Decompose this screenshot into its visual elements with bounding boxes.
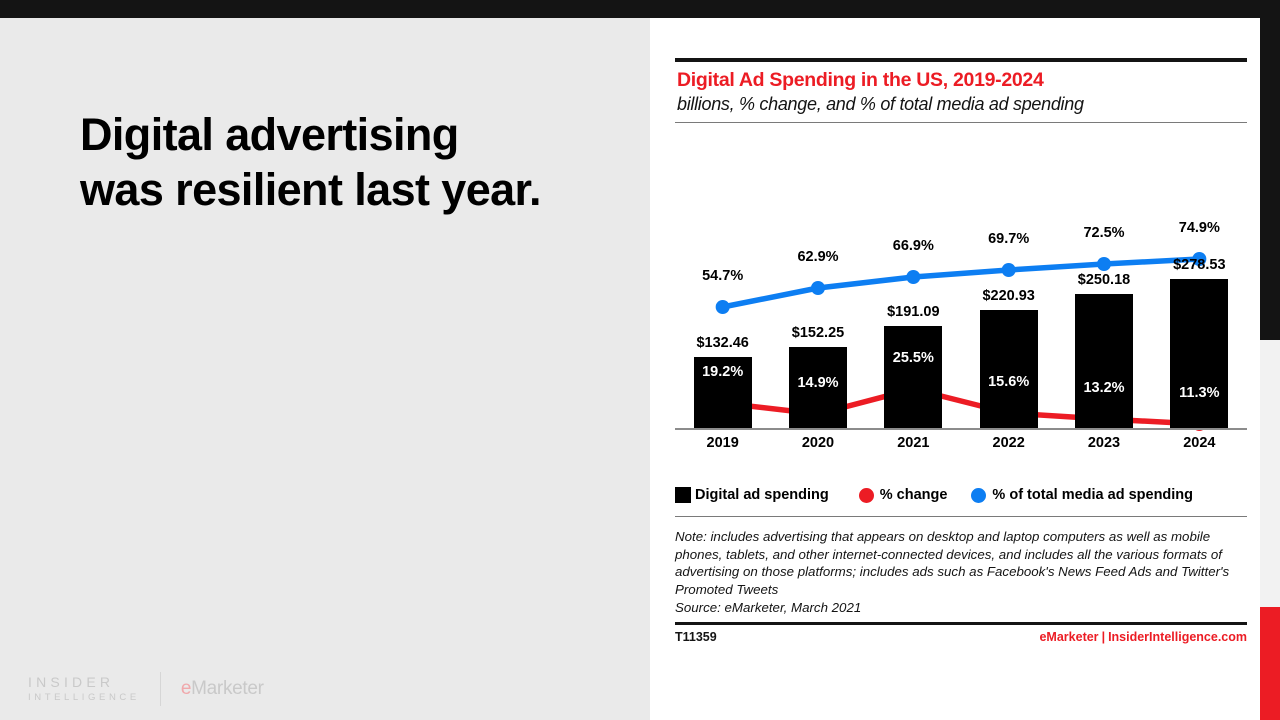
legend-label: % change — [880, 487, 948, 503]
point-label-pct-of-total-2024: 74.9% — [1149, 220, 1249, 236]
chart-notes: Note: includes advertising that appears … — [675, 528, 1247, 616]
bar-value-label-2021: $191.09 — [863, 304, 963, 320]
chart-legend: Digital ad spending% change% of total me… — [675, 487, 1247, 503]
chart-plot-area: $132.46$152.25$191.09$220.93$250.18$278.… — [675, 129, 1247, 459]
bar-value-label-2019: $132.46 — [673, 335, 773, 351]
x-tick-2022: 2022 — [959, 435, 1059, 451]
legend-square-icon — [675, 487, 691, 503]
chart-id: T11359 — [675, 630, 717, 644]
emarketer-logo: eMarketer — [181, 678, 264, 700]
legend-label: Digital ad spending — [695, 487, 829, 503]
insider-intelligence-logo: INSIDER INTELLIGENCE — [28, 673, 140, 705]
chart-subtitle: billions, % change, and % of total media… — [677, 94, 1247, 115]
page-title: Digital advertising was resilient last y… — [80, 108, 640, 218]
footer-website: InsiderIntelligence.com — [1108, 630, 1247, 644]
bar-value-label-2023: $250.18 — [1054, 272, 1154, 288]
point-label-pct-of-total-2022: 69.7% — [959, 231, 1059, 247]
bar-value-label-2024: $278.53 — [1149, 257, 1249, 273]
headline-line-2: was resilient last year. — [80, 163, 640, 218]
x-tick-2020: 2020 — [768, 435, 868, 451]
right-edge-red-strip — [1260, 607, 1280, 720]
bar-2022 — [980, 310, 1038, 428]
source-text: Source: eMarketer, March 2021 — [675, 599, 1247, 617]
point-pct-of-total-2020 — [811, 281, 825, 295]
footer-emarketer: eMarketer — [1039, 630, 1098, 644]
note-text: Note: includes advertising that appears … — [675, 528, 1247, 599]
point-label-pct-change-2019: 19.2% — [673, 364, 773, 380]
bar-2024 — [1170, 279, 1228, 428]
x-axis-line — [675, 428, 1247, 430]
footer-rule — [675, 622, 1247, 625]
point-label-pct-change-2020: 14.9% — [768, 375, 868, 391]
top-black-bar — [0, 0, 1280, 18]
emarketer-logo-e: e — [181, 678, 191, 699]
point-label-pct-of-total-2020: 62.9% — [768, 249, 868, 265]
point-label-pct-change-2021: 25.5% — [863, 350, 963, 366]
notes-top-rule — [675, 516, 1247, 517]
headline-panel: Digital advertising was resilient last y… — [0, 18, 650, 720]
legend-item-pct-change: % change — [859, 487, 948, 503]
legend-dot-icon — [971, 488, 986, 503]
point-pct-of-total-2021 — [906, 270, 920, 284]
title-bottom-rule — [675, 122, 1247, 123]
bar-value-label-2020: $152.25 — [768, 325, 868, 341]
x-tick-2021: 2021 — [863, 435, 963, 451]
right-edge-gray-strip — [1260, 340, 1280, 607]
point-label-pct-change-2022: 15.6% — [959, 374, 1059, 390]
emarketer-logo-rest: Marketer — [191, 678, 264, 699]
point-label-pct-change-2024: 11.3% — [1149, 385, 1249, 401]
insider-logo-line-1: INSIDER — [28, 673, 140, 692]
bar-value-label-2022: $220.93 — [959, 288, 1059, 304]
point-pct-of-total-2022 — [1002, 263, 1016, 277]
legend-item-digital-ad-spending: Digital ad spending — [675, 487, 829, 503]
point-label-pct-of-total-2019: 54.7% — [673, 268, 773, 284]
logo-divider — [160, 672, 161, 706]
headline-line-1: Digital advertising — [80, 108, 640, 163]
footer-brand: eMarketer|InsiderIntelligence.com — [1039, 630, 1247, 644]
title-top-rule — [675, 58, 1247, 62]
legend-label: % of total media ad spending — [992, 487, 1193, 503]
point-label-pct-change-2023: 13.2% — [1054, 380, 1154, 396]
right-edge-black-strip — [1260, 18, 1280, 340]
brand-logo: INSIDER INTELLIGENCE eMarketer — [28, 672, 264, 706]
point-label-pct-of-total-2021: 66.9% — [863, 238, 963, 254]
insider-logo-line-2: INTELLIGENCE — [28, 692, 140, 705]
point-pct-of-total-2019 — [716, 300, 730, 314]
bar-2023 — [1075, 294, 1133, 428]
x-tick-2023: 2023 — [1054, 435, 1154, 451]
chart-footer: T11359 eMarketer|InsiderIntelligence.com — [675, 630, 1247, 644]
chart-title: Digital Ad Spending in the US, 2019-2024 — [677, 69, 1247, 92]
point-label-pct-of-total-2023: 72.5% — [1054, 225, 1154, 241]
point-pct-of-total-2023 — [1097, 257, 1111, 271]
bar-2021 — [884, 326, 942, 428]
footer-separator: | — [1102, 630, 1106, 644]
legend-dot-icon — [859, 488, 874, 503]
x-tick-2019: 2019 — [673, 435, 773, 451]
x-tick-2024: 2024 — [1149, 435, 1249, 451]
chart-card: Digital Ad Spending in the US, 2019-2024… — [650, 18, 1260, 720]
legend-item-pct-of-total: % of total media ad spending — [971, 487, 1193, 503]
